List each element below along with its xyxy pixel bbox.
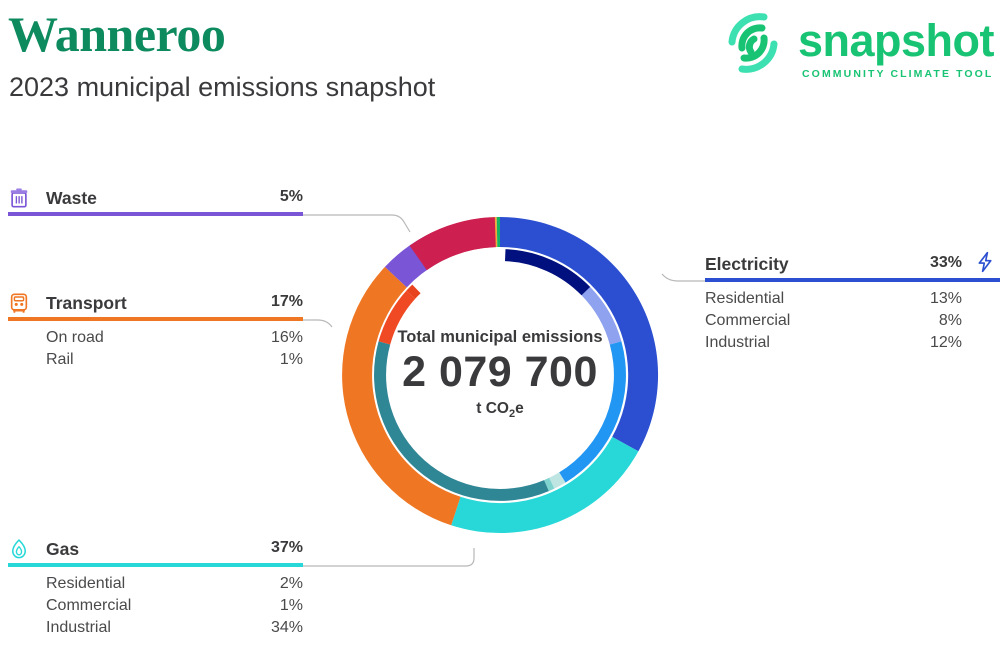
sub-percent: 1% (233, 597, 303, 615)
list-item: Residential 13% (705, 290, 1000, 312)
snapshot-logo: snapshot COMMUNITY CLIMATE TOOL (710, 8, 1000, 88)
transport-header: Transport 17% (8, 293, 303, 319)
flame-icon (8, 537, 30, 561)
sub-label: Rail (46, 351, 74, 369)
logo-wordmark: snapshot (798, 15, 994, 67)
train-icon (8, 291, 30, 315)
gas-percent: 37% (233, 539, 303, 557)
category-transport[interactable]: Transport 17% On road 16% Rail 1% (8, 293, 303, 373)
unit-prefix: t CO (476, 400, 509, 417)
category-electricity[interactable]: Electricity 33% Residential 13% Commerci… (705, 254, 1000, 356)
sub-percent: 8% (892, 312, 962, 330)
transport-rule (8, 317, 303, 321)
page-title: Wanneroo (8, 5, 225, 63)
sub-label: Commercial (46, 597, 131, 615)
list-item: Industrial 34% (8, 619, 303, 641)
waste-percent: 5% (233, 188, 303, 206)
snapshot-spiral-icon (718, 8, 788, 78)
center-unit: t CO2e (375, 400, 625, 420)
sub-label: Industrial (705, 334, 770, 352)
unit-suffix: e (515, 400, 524, 417)
electricity-percent: 33% (892, 254, 962, 272)
electricity-rule (705, 278, 1000, 282)
electricity-header: Electricity 33% (705, 254, 1000, 280)
list-item: Commercial 1% (8, 597, 303, 619)
sub-percent: 16% (233, 329, 303, 347)
gas-header: Gas 37% (8, 539, 303, 565)
sub-percent: 12% (892, 334, 962, 352)
sub-label: Residential (705, 290, 784, 308)
gas-label: Gas (46, 539, 79, 560)
donut-center-label: Total municipal emissions 2 079 700 t CO… (375, 328, 625, 420)
sub-label: Industrial (46, 619, 111, 637)
lightning-bolt-icon (974, 250, 996, 274)
donut-inner-waste-landfill (410, 217, 496, 270)
sub-percent: 34% (233, 619, 303, 637)
logo-tagline: COMMUNITY CLIMATE TOOL (802, 68, 993, 80)
waste-header: Waste 5% (8, 188, 303, 214)
waste-label: Waste (46, 188, 97, 209)
sub-label: Commercial (705, 312, 790, 330)
sub-label: Residential (46, 575, 125, 593)
category-waste[interactable]: Waste 5% (8, 188, 303, 214)
transport-label: Transport (46, 293, 127, 314)
list-item: On road 16% (8, 329, 303, 351)
waste-rule (8, 212, 303, 216)
list-item: Industrial 12% (705, 334, 1000, 356)
gas-rule (8, 563, 303, 567)
trash-bin-icon (8, 186, 30, 210)
sub-percent: 1% (233, 351, 303, 369)
sub-percent: 13% (892, 290, 962, 308)
sub-percent: 2% (233, 575, 303, 593)
page-subtitle: 2023 municipal emissions snapshot (9, 72, 435, 103)
sub-label: On road (46, 329, 104, 347)
center-total-value: 2 079 700 (375, 351, 625, 394)
category-gas[interactable]: Gas 37% Residential 2% Commercial 1% Ind… (8, 539, 303, 641)
list-item: Commercial 8% (705, 312, 1000, 334)
transport-percent: 17% (233, 293, 303, 311)
list-item: Residential 2% (8, 575, 303, 597)
center-title: Total municipal emissions (375, 328, 625, 347)
electricity-label: Electricity (705, 254, 789, 275)
list-item: Rail 1% (8, 351, 303, 373)
infographic-page: Wanneroo 2023 municipal emissions snapsh… (0, 0, 1000, 670)
